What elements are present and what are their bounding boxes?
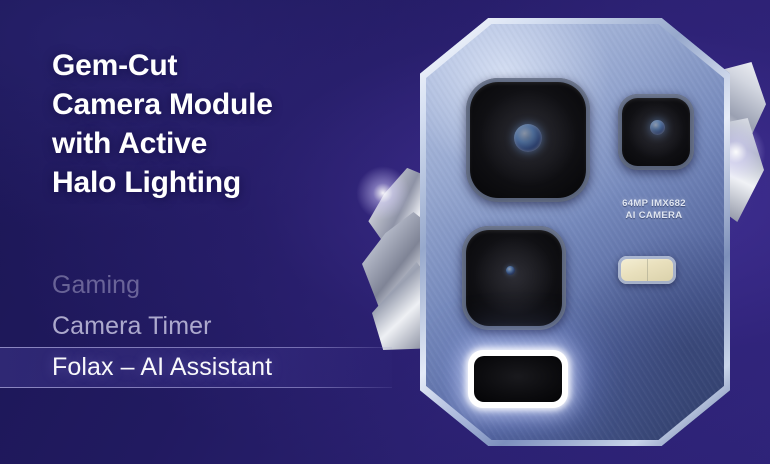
feature-item-label: Gaming — [52, 271, 140, 300]
feature-item-camera-timer[interactable]: Camera Timer — [0, 306, 392, 347]
feature-item-gaming[interactable]: Gaming — [0, 265, 392, 306]
feature-item-folax-ai-assistant[interactable]: Folax – AI Assistant — [0, 347, 392, 388]
halo-light-element — [468, 350, 568, 408]
camera-spec-engraving: 64MP IMX682 AI CAMERA — [596, 198, 712, 223]
dual-led-flash — [618, 256, 676, 284]
main-lens — [466, 78, 590, 202]
page-title: Gem-Cut Camera Module with Active Halo L… — [52, 46, 382, 202]
feature-item-label: Folax – AI Assistant — [52, 353, 272, 382]
product-feature-slide: 64MP IMX682 AI CAMERA Gem-Cut Camera Mod… — [0, 0, 770, 464]
feature-item-label: Camera Timer — [52, 312, 212, 341]
camera-module: 64MP IMX682 AI CAMERA — [420, 18, 730, 446]
secondary-lens — [618, 94, 694, 170]
secondary-lens-glint — [650, 120, 665, 135]
tertiary-lens — [462, 226, 566, 330]
halo-inner-window — [474, 356, 562, 402]
tertiary-lens-glint — [506, 266, 515, 275]
main-lens-glint — [514, 124, 542, 152]
feature-list: Gaming Camera Timer Folax – AI Assistant — [0, 265, 392, 388]
